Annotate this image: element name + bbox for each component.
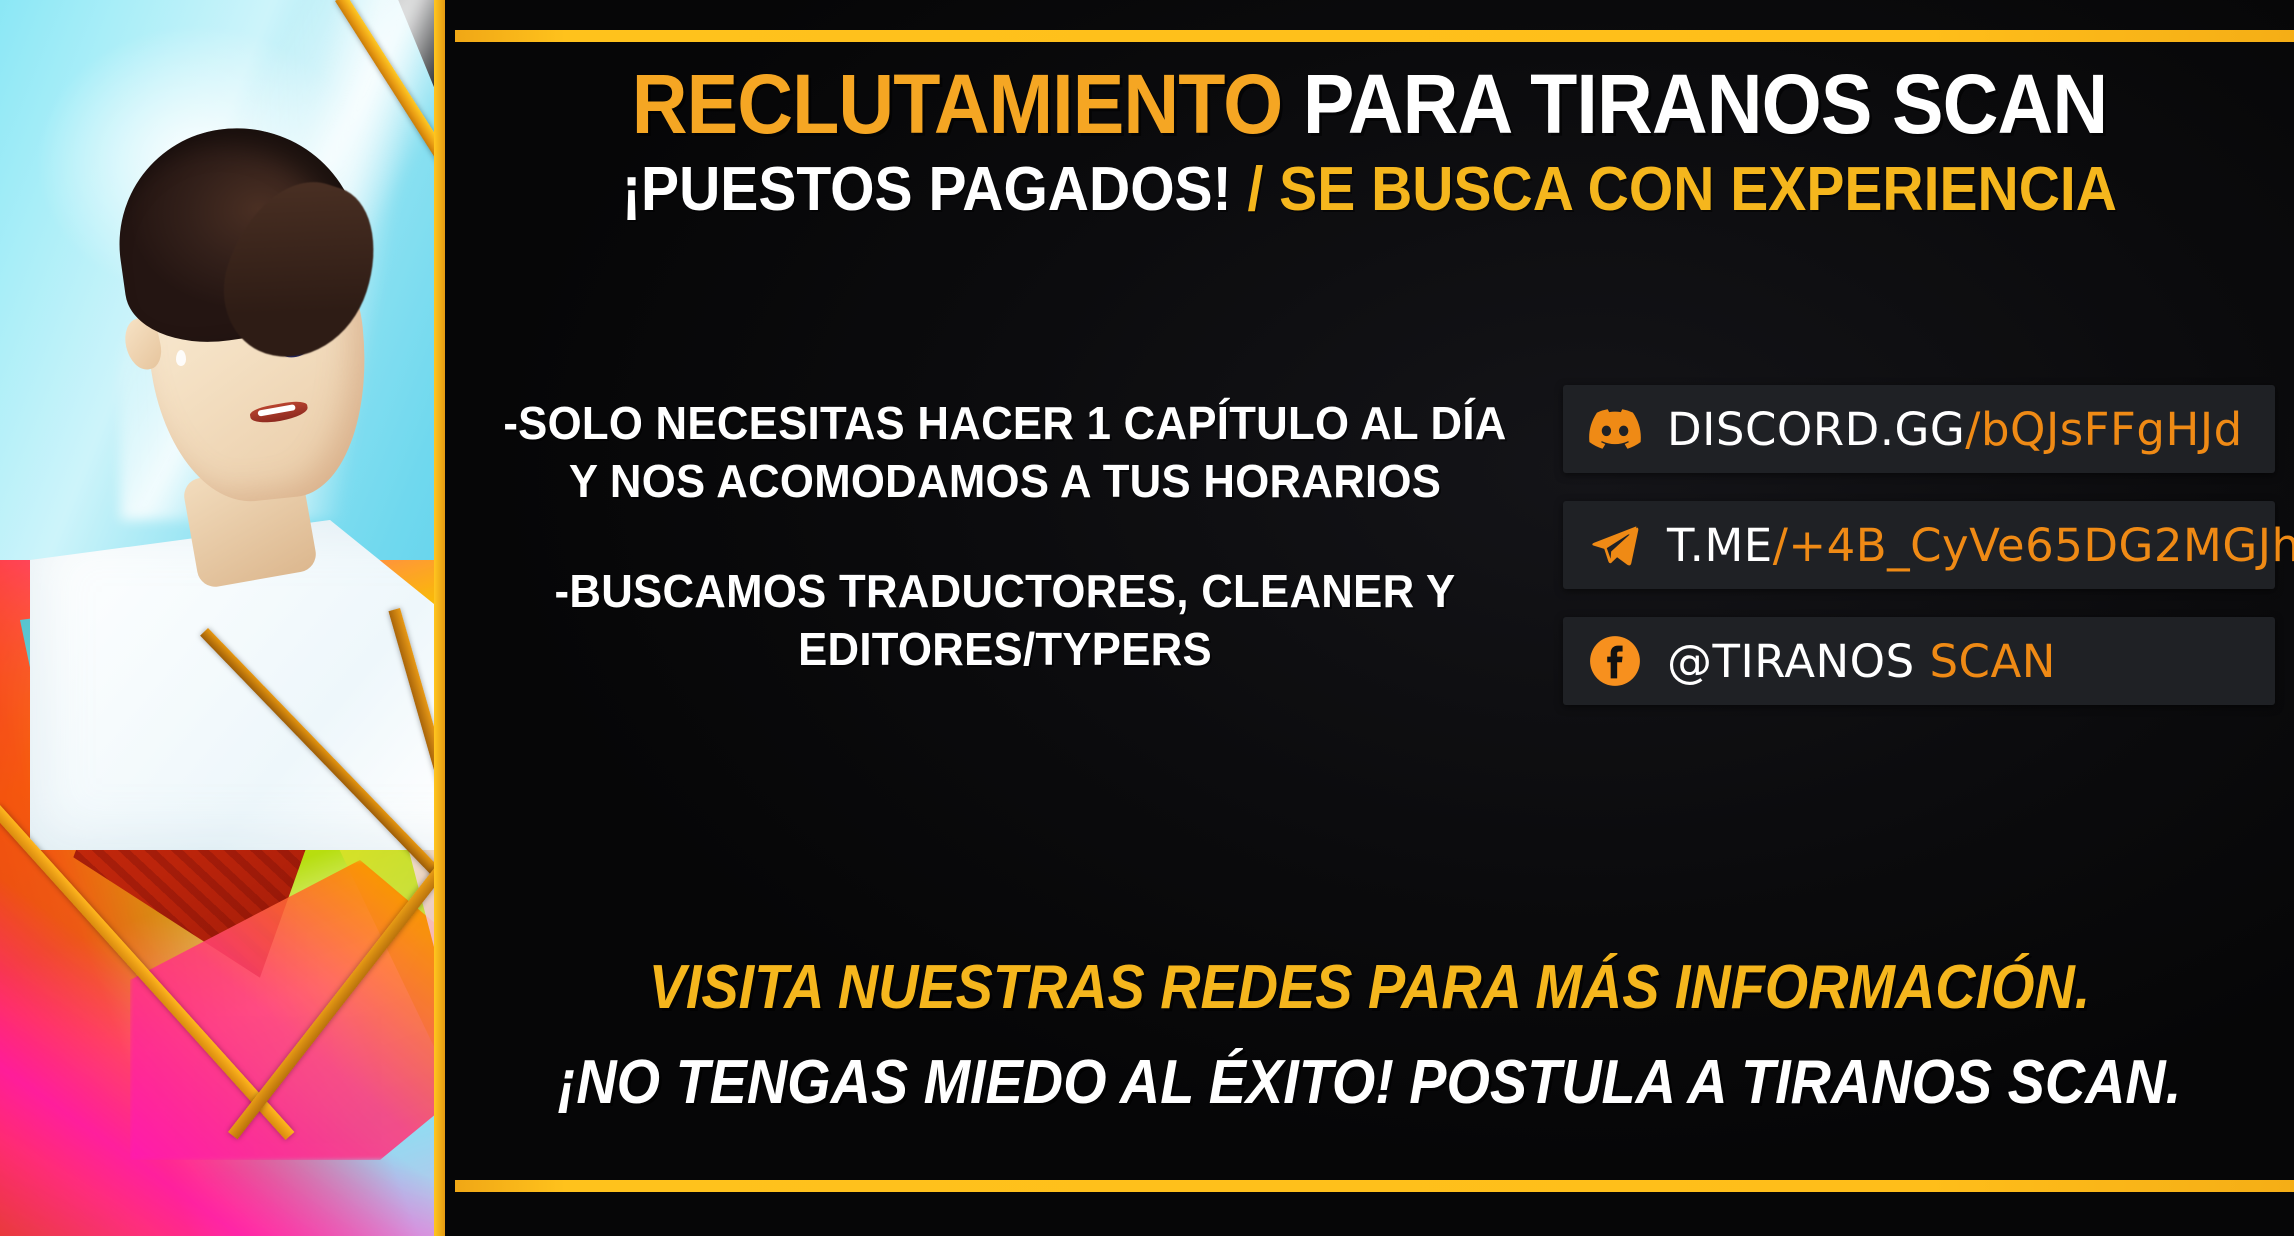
headline-highlight: RECLUTAMIENTO (632, 57, 1283, 151)
call-to-action-block: VISITA NUESTRAS REDES PARA MÁS INFORMACI… (445, 952, 2294, 1118)
body-paragraph-1: -SOLO NECESITAS HACER 1 CAPÍTULO AL DÍA … (502, 395, 1509, 511)
discord-handle: /bQJsFFgHJd (1965, 403, 2242, 456)
telegram-icon (1589, 519, 1641, 571)
headline-experience: / SE BUSCA CON EXPERIENCIA (1247, 155, 2116, 224)
headline-paid-positions: ¡PUESTOS PAGADOS! (622, 155, 1232, 224)
gold-vertical-divider (434, 0, 445, 1236)
headline-block: RECLUTAMIENTO PARA TIRANOS SCAN ¡PUESTOS… (445, 62, 2294, 221)
contact-text-discord: DISCORD.GG/bQJsFFgHJd (1667, 403, 2243, 456)
contact-card-discord[interactable]: DISCORD.GG/bQJsFFgHJd (1563, 385, 2275, 473)
gold-rule-top (455, 30, 2294, 42)
recruitment-banner: RECLUTAMIENTO PARA TIRANOS SCAN ¡PUESTOS… (0, 0, 2294, 1236)
contact-card-facebook[interactable]: @TIRANOS SCAN (1563, 617, 2275, 705)
sweat-drop-icon (176, 350, 186, 366)
headline-line-1: RECLUTAMIENTO PARA TIRANOS SCAN (519, 62, 2220, 148)
contact-text-telegram: T.ME/+4B_CyVe65DG2MGJh (1667, 519, 2294, 572)
body-paragraph-2: -BUSCAMOS TRADUCTORES, CLEANER Y EDITORE… (502, 563, 1509, 679)
contact-text-facebook: @TIRANOS SCAN (1667, 635, 2056, 688)
discord-icon (1589, 403, 1641, 455)
facebook-icon (1589, 635, 1641, 687)
contact-card-telegram[interactable]: T.ME/+4B_CyVe65DG2MGJh (1563, 501, 2275, 589)
cta-line-2: ¡NO TENGAS MIEDO AL ÉXITO! POSTULA A TIR… (537, 1047, 2201, 1118)
content-panel: RECLUTAMIENTO PARA TIRANOS SCAN ¡PUESTOS… (445, 0, 2294, 1236)
gold-rule-bottom (455, 1180, 2294, 1192)
telegram-label: T.ME (1667, 519, 1773, 572)
cta-line-1: VISITA NUESTRAS REDES PARA MÁS INFORMACI… (537, 952, 2201, 1023)
facebook-label: @TIRANOS (1667, 635, 1915, 688)
telegram-handle: /+4B_CyVe65DG2MGJh (1773, 519, 2294, 572)
facebook-handle: SCAN (1929, 635, 2055, 688)
contact-list: DISCORD.GG/bQJsFFgHJd T.ME/+4B_CyVe65DG2… (1563, 385, 2275, 733)
headline-line-2: ¡PUESTOS PAGADOS! / SE BUSCA CON EXPERIE… (519, 158, 2220, 221)
headline-rest: PARA TIRANOS SCAN (1303, 57, 2107, 151)
discord-label: DISCORD.GG (1667, 403, 1965, 456)
body-copy-block: -SOLO NECESITAS HACER 1 CAPÍTULO AL DÍA … (475, 395, 1535, 679)
